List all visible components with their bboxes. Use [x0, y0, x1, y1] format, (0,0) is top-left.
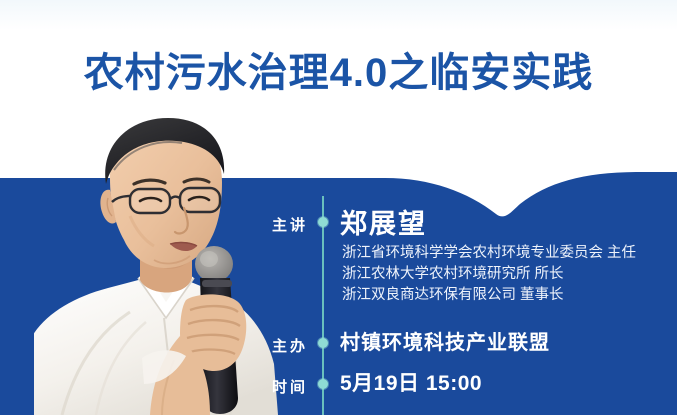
organizer-name: 村镇环境科技产业联盟 — [340, 326, 550, 355]
time-value: 5月19日 15:00 — [340, 367, 482, 397]
poster-root: 农村污水治理4.0之临安实践 — [0, 0, 677, 415]
speaker-label: 主讲 — [272, 214, 318, 235]
timeline-dot-time — [318, 379, 328, 389]
info-block: 主讲 郑展望 浙江省环境科学学会农村环境专业委员会 主任 浙江农林大学农村环境研… — [272, 196, 677, 415]
speaker-photo — [34, 112, 296, 415]
speaker-affiliation-3: 浙江双良商达环保有限公司 董事长 — [342, 285, 636, 306]
timeline-dot-speaker — [318, 217, 328, 227]
speaker-affiliation-1: 浙江省环境科学学会农村环境专业委员会 主任 — [342, 243, 636, 264]
speaker-affiliations: 浙江省环境科学学会农村环境专业委员会 主任 浙江农林大学农村环境研究所 所长 浙… — [342, 243, 636, 306]
background-tint — [0, 0, 677, 30]
page-title: 农村污水治理4.0之临安实践 — [0, 47, 677, 99]
organizer-label: 主办 — [272, 335, 318, 356]
speaker-name: 郑展望 — [340, 202, 427, 241]
timeline-dot-organizer — [318, 338, 328, 348]
time-label: 时间 — [272, 376, 318, 397]
speaker-affiliation-2: 浙江农林大学农村环境研究所 所长 — [342, 264, 636, 285]
